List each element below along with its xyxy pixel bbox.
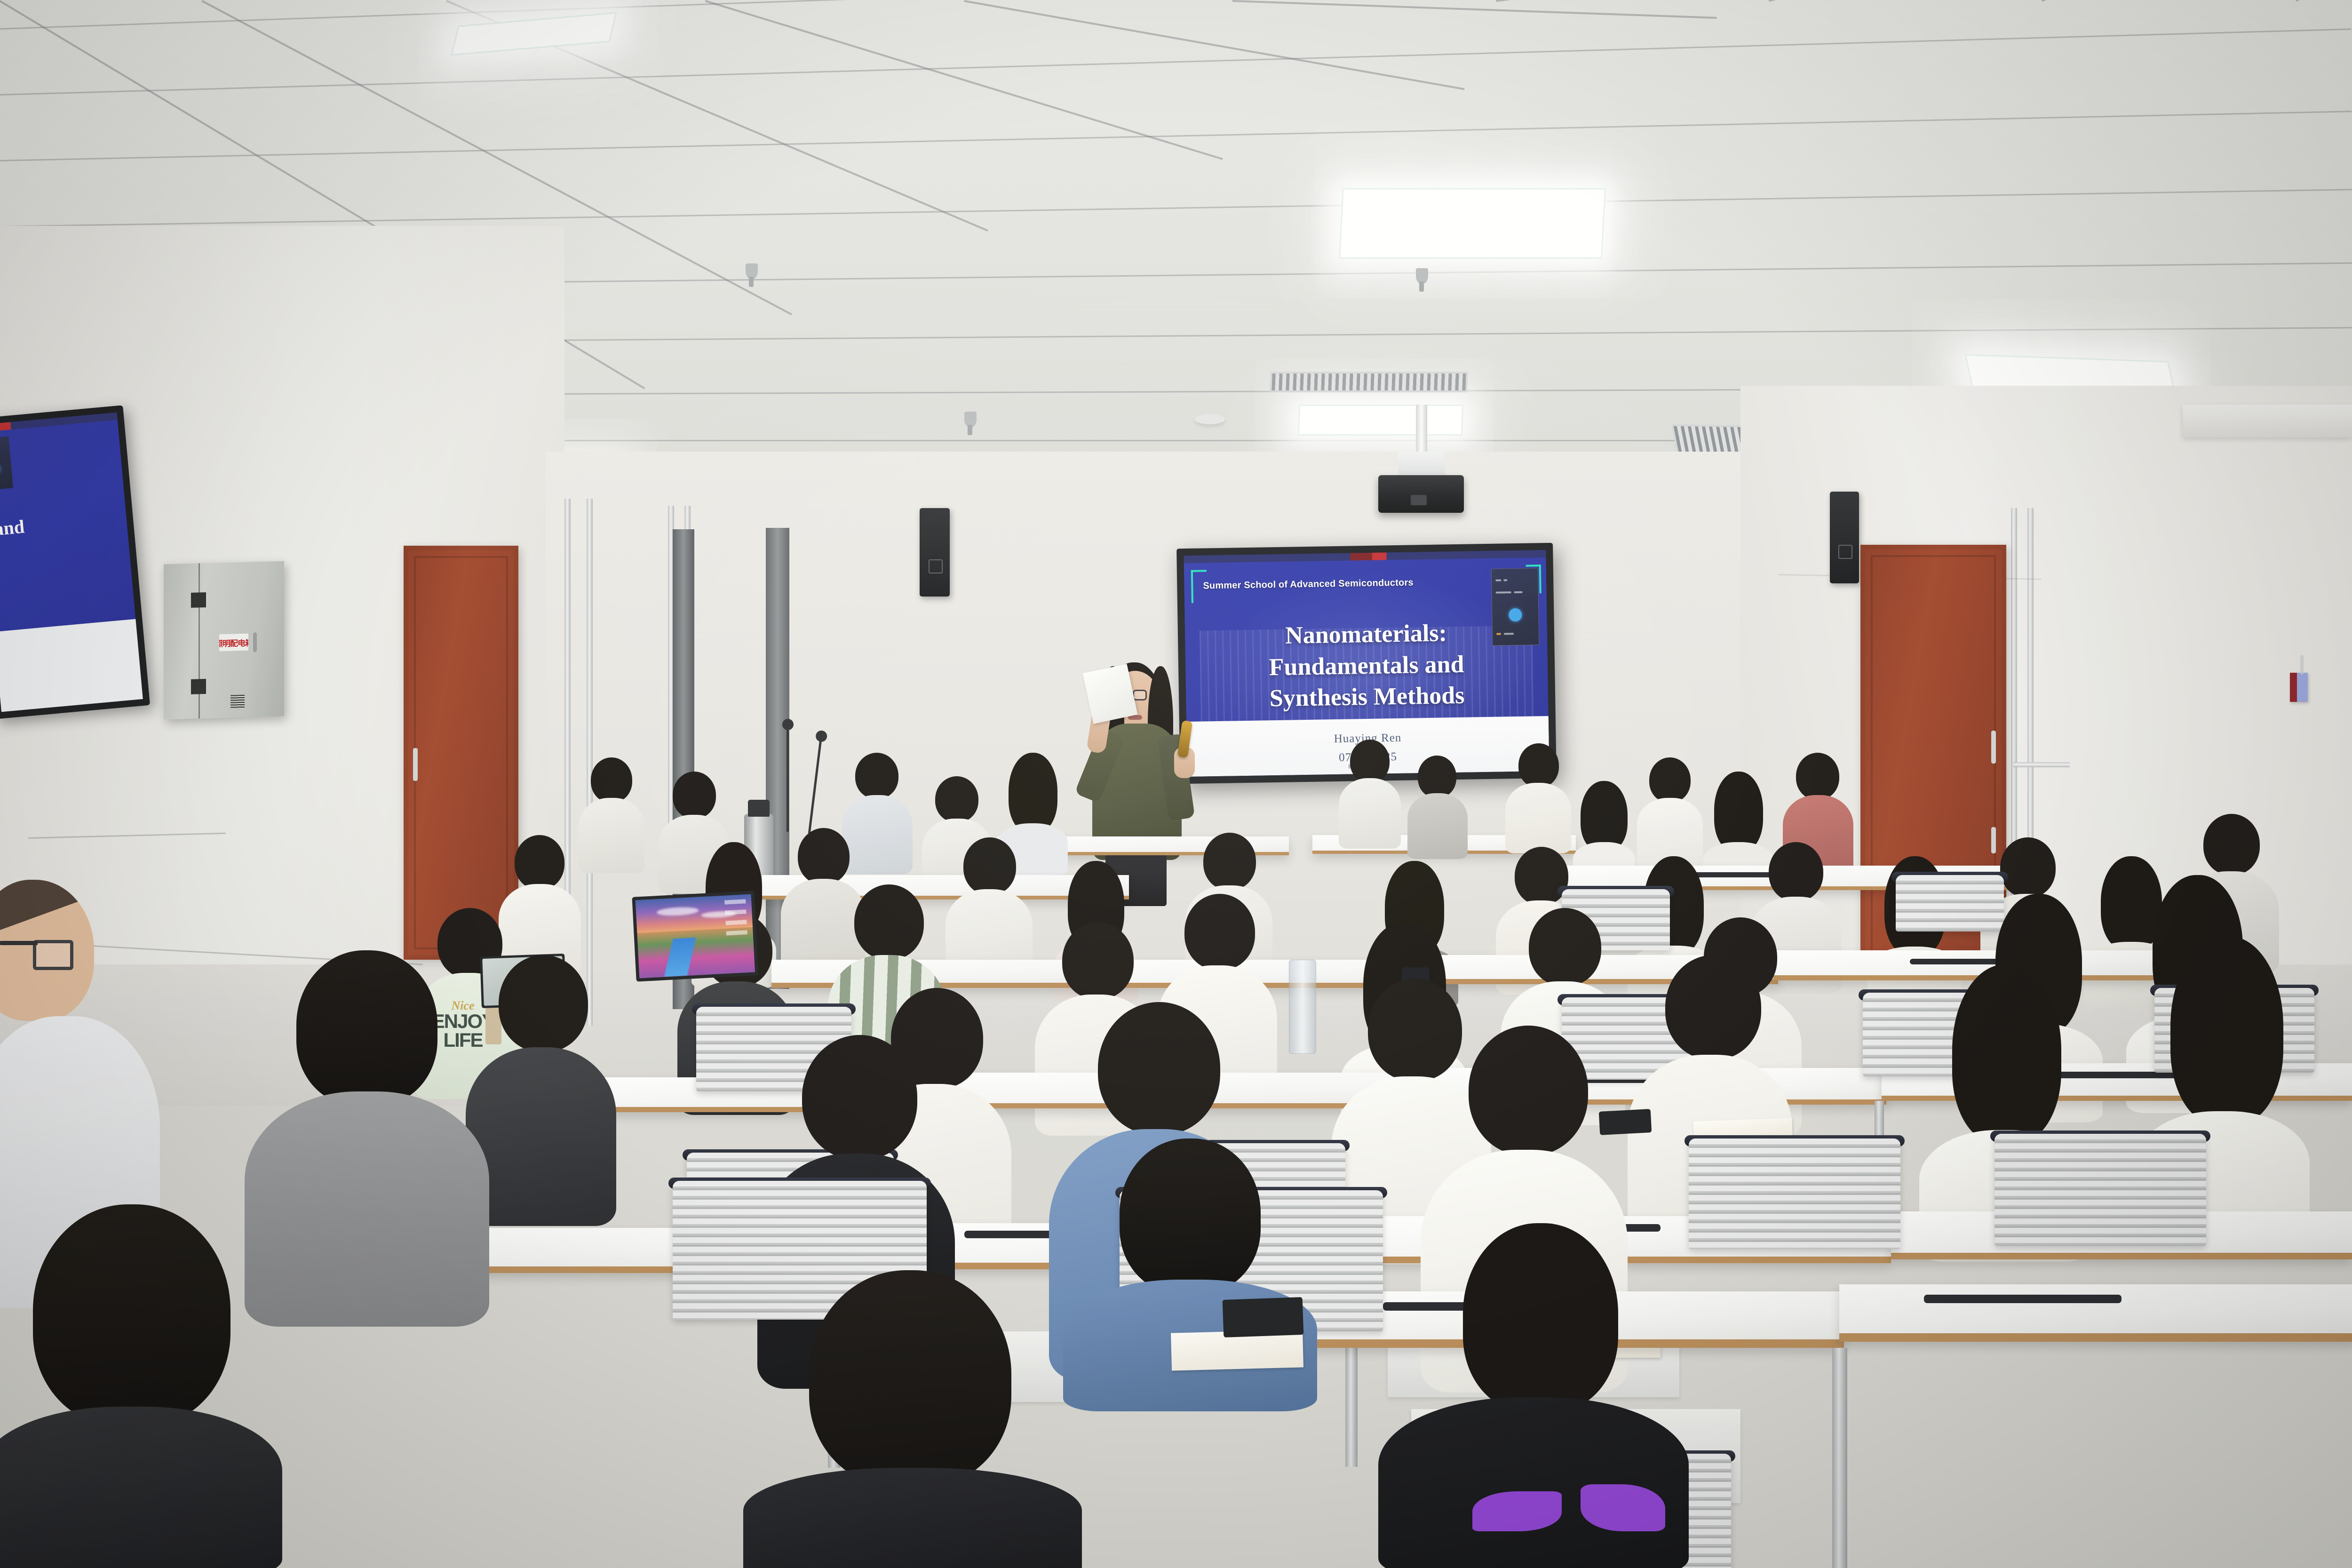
- window-blind-head: [2183, 405, 2352, 438]
- slide-picture-in-picture: [1491, 568, 1540, 646]
- lecture-hall-photo: tors : Fundamentals and sis Methods ayin…: [0, 0, 2352, 1568]
- presenter-glasses-icon: [1133, 690, 1147, 700]
- audience-member: [1407, 756, 1468, 854]
- sprinkler-head: [964, 412, 977, 428]
- audience-member: [1637, 757, 1703, 866]
- left-monitor-title-1: : Fundamentals and: [0, 515, 25, 552]
- laptop[interactable]: [632, 891, 758, 981]
- audience-member-foreground: [743, 1270, 1082, 1568]
- audience-member-foreground: [245, 950, 489, 1317]
- desk: [1839, 1284, 2352, 1342]
- shirt-graphic-icon: [1472, 1491, 1562, 1531]
- electrical-cabinet[interactable]: 照明配电箱: [164, 561, 284, 720]
- slide-header-text: Summer School of Advanced Semiconductors: [1203, 577, 1414, 591]
- audience-member: [1505, 743, 1571, 852]
- left-monitor-pip: [0, 437, 13, 491]
- wall-speaker-left: [920, 508, 950, 597]
- electrical-cabinet-label: 照明配电箱: [219, 634, 248, 652]
- sprinkler-head: [1416, 268, 1428, 284]
- chair[interactable]: [1689, 1138, 1900, 1249]
- glasses-icon: [33, 940, 73, 970]
- fire-alarm[interactable]: [2290, 673, 2308, 702]
- left-monitor-slide: tors : Fundamentals and sis Methods ayin…: [0, 411, 150, 719]
- shirt-graphic-icon: [1581, 1484, 1665, 1531]
- chair[interactable]: [1994, 1134, 2206, 1246]
- smoke-detector: [1195, 414, 1225, 424]
- laptop-desktop-icons[interactable]: [725, 899, 747, 935]
- audience-member-foreground: [1378, 1378, 1689, 1568]
- laptop-wallpaper-river: [664, 938, 696, 977]
- hvac-vent: [1270, 372, 1468, 392]
- audience-member-foreground: [0, 1204, 282, 1568]
- slide-top-bar: [1184, 550, 1546, 563]
- slide-title: Nanomaterials: Fundamentals and Synthesi…: [1210, 617, 1523, 716]
- ceiling-projector: [1378, 475, 1464, 513]
- slide-title-line1: Nanomaterials: Fundamentals and: [1210, 617, 1522, 684]
- ceiling-light-panel: [1298, 405, 1463, 436]
- audience-member: [579, 757, 644, 870]
- microphone-stand: [787, 728, 789, 832]
- wall-conduit: [2013, 762, 2070, 767]
- audience-member: [1339, 740, 1401, 848]
- water-bottle: [1289, 960, 1316, 1054]
- ceiling-light-panel: [451, 12, 617, 56]
- wall-speaker-right: [1830, 492, 1859, 583]
- audience-member: [946, 837, 1033, 979]
- ceiling-light-panel: [1339, 188, 1606, 259]
- laptop-screen: [632, 891, 758, 981]
- desk-cable-slot: [1924, 1295, 2122, 1303]
- desk-leg: [1832, 1348, 1847, 1568]
- smartphone[interactable]: [1223, 1297, 1304, 1337]
- sprinkler-head: [746, 263, 758, 279]
- projector-mount-arm: [1416, 405, 1427, 456]
- thermos-cap: [748, 800, 770, 817]
- slide-title-line2: Synthesis Methods: [1211, 679, 1523, 716]
- glasses-temple: [0, 941, 38, 945]
